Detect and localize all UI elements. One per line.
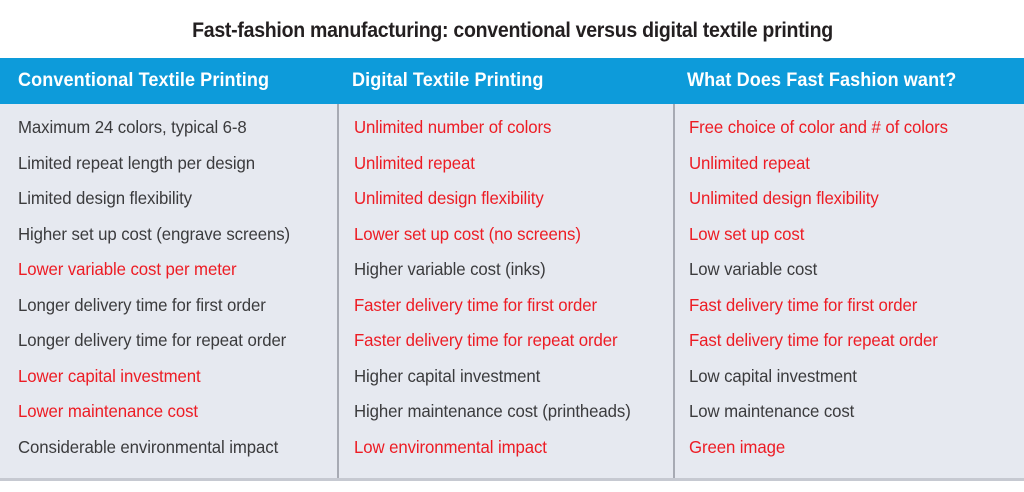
table-cell: Fast delivery time for first order (689, 288, 1011, 324)
table-cell: Higher variable cost (inks) (354, 252, 660, 288)
table-cell: Unlimited design flexibility (689, 181, 1011, 217)
table-cell: Faster delivery time for first order (354, 288, 660, 324)
column-header-fast-fashion-label: What Does Fast Fashion want? (687, 70, 956, 92)
table-cell: Lower set up cost (no screens) (354, 217, 660, 253)
table-cell: Unlimited repeat (354, 146, 660, 182)
table-column-conventional: Maximum 24 colors, typical 6-8 Limited r… (0, 104, 337, 478)
table-cell: Higher maintenance cost (printheads) (354, 394, 660, 430)
table-cell: Lower maintenance cost (18, 394, 324, 430)
table-cell: Higher set up cost (engrave screens) (18, 217, 324, 253)
table-header-row: Conventional Textile Printing Digital Te… (0, 58, 1024, 104)
table-cell: Low maintenance cost (689, 394, 1011, 430)
table-cell: Faster delivery time for repeat order (354, 323, 660, 359)
table-cell: Maximum 24 colors, typical 6-8 (18, 110, 324, 146)
column-header-digital-label: Digital Textile Printing (352, 70, 543, 92)
table-cell: Longer delivery time for first order (18, 288, 324, 324)
table-cell: Limited repeat length per design (18, 146, 324, 182)
table-cell: Lower capital investment (18, 359, 324, 395)
table-column-digital: Unlimited number of colors Unlimited rep… (337, 104, 673, 478)
table-cell: Unlimited design flexibility (354, 181, 660, 217)
table-cell: Low environmental impact (354, 430, 660, 466)
table-cell: Limited design flexibility (18, 181, 324, 217)
table-cell: Low variable cost (689, 252, 1011, 288)
column-header-fast-fashion: What Does Fast Fashion want? (673, 58, 1024, 104)
table-cell: Fast delivery time for repeat order (689, 323, 1011, 359)
comparison-table-page: Fast-fashion manufacturing: conventional… (0, 0, 1024, 492)
column-header-conventional: Conventional Textile Printing (0, 58, 337, 104)
table-cell: Higher capital investment (354, 359, 660, 395)
page-title-bar: Fast-fashion manufacturing: conventional… (0, 0, 1024, 58)
table-cell: Longer delivery time for repeat order (18, 323, 324, 359)
table-cell: Unlimited repeat (689, 146, 1011, 182)
table-column-fast-fashion: Free choice of color and # of colors Unl… (673, 104, 1024, 478)
table-cell: Lower variable cost per meter (18, 252, 324, 288)
table-cell: Green image (689, 430, 1011, 466)
comparison-table: Conventional Textile Printing Digital Te… (0, 58, 1024, 478)
table-cell: Low set up cost (689, 217, 1011, 253)
table-cell: Considerable environmental impact (18, 430, 324, 466)
table-cell: Free choice of color and # of colors (689, 110, 1011, 146)
page-title: Fast-fashion manufacturing: conventional… (192, 19, 833, 43)
column-header-conventional-label: Conventional Textile Printing (18, 70, 269, 92)
table-body: Maximum 24 colors, typical 6-8 Limited r… (0, 104, 1024, 478)
table-footer-space (0, 481, 1024, 492)
column-header-digital: Digital Textile Printing (337, 58, 673, 104)
table-cell: Unlimited number of colors (354, 110, 660, 146)
table-cell: Low capital investment (689, 359, 1011, 395)
